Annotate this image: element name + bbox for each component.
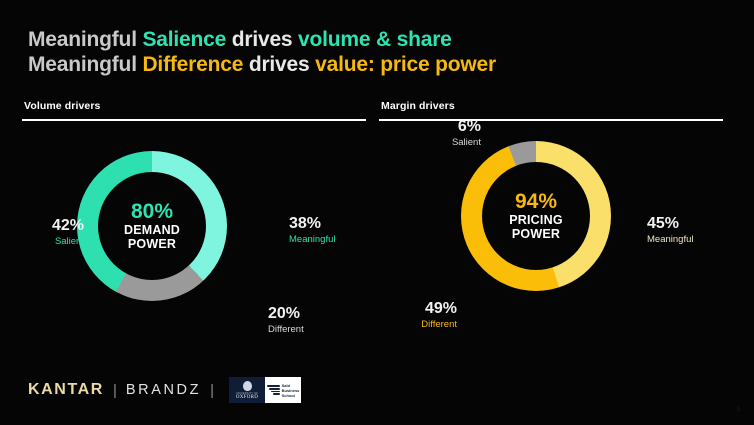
donut-center-pricing: 94% PRICING POWER <box>482 162 590 270</box>
title-seg-difference: Difference <box>142 53 243 76</box>
donut-area-volume: 80% DEMAND POWER 42% Salient 38% Meaning… <box>22 121 366 353</box>
title-seg-volume-share: volume & share <box>298 28 452 51</box>
center-label-pricing-1: PRICING <box>509 213 563 227</box>
title-seg-price-power: value: price power <box>315 53 496 76</box>
kantar-logo: KANTAR <box>28 381 104 399</box>
center-percent-demand: 80% <box>131 201 173 223</box>
callout-name: Different <box>367 318 457 331</box>
donut-chart-pricing-power: 94% PRICING POWER <box>461 141 611 291</box>
brandz-logo: BRANDZ <box>126 382 201 398</box>
partner-logos: UNIVERSITY OF OXFORD Saïd Business Schoo… <box>229 377 301 403</box>
callout-percent: 20% <box>268 305 304 323</box>
title-seg: Meaningful <box>28 28 142 51</box>
title-seg: Meaningful <box>28 53 142 76</box>
callout-different-volume: 20% Different <box>268 305 304 336</box>
panel-volume-drivers: Volume drivers 80% DEMAND POWER 42% Sali… <box>22 100 366 362</box>
footer-separator: | <box>210 382 214 399</box>
oxford-crest-icon <box>243 381 252 391</box>
title-seg: drives <box>243 53 315 76</box>
title-line-1: Meaningful Salience drives volume & shar… <box>28 27 496 52</box>
center-percent-pricing: 94% <box>515 191 557 213</box>
page-number: 3 <box>736 406 740 413</box>
panel-heading-margin: Margin drivers <box>379 100 723 112</box>
panel-margin-drivers: Margin drivers 94% PRICING POWER 6% Sali… <box>379 100 723 362</box>
callout-percent: 38% <box>289 215 335 233</box>
said-stack-icon <box>267 385 280 394</box>
donut-area-margin: 94% PRICING POWER 6% Salient 45% Meaning… <box>379 121 723 353</box>
callout-name: Salient <box>401 136 481 149</box>
center-label-demand-2: POWER <box>128 237 176 251</box>
title-line-2: Meaningful Difference drives value: pric… <box>28 52 496 77</box>
said-line-3: School <box>282 393 295 398</box>
callout-meaningful-volume: 38% Meaningful <box>289 215 335 246</box>
callout-name: Salient <box>20 235 84 248</box>
callout-percent: 42% <box>20 217 84 235</box>
footer-branding: KANTAR | BRANDZ | UNIVERSITY OF OXFORD S… <box>28 377 301 403</box>
callout-percent: 6% <box>401 118 481 136</box>
donut-center-demand: 80% DEMAND POWER <box>98 172 206 280</box>
said-wordmark: Saïd Business School <box>282 383 300 398</box>
callout-different-margin: 49% Different <box>367 300 457 331</box>
said-business-school-logo: Saïd Business School <box>265 377 301 403</box>
title-seg: drives <box>226 28 298 51</box>
center-label-pricing-2: POWER <box>512 227 560 241</box>
callout-name: Meaningful <box>647 233 693 246</box>
callout-meaningful-margin: 45% Meaningful <box>647 215 693 246</box>
callout-salient-volume: 42% Salient <box>20 217 84 248</box>
footer-separator: | <box>113 382 117 399</box>
donut-chart-demand-power: 80% DEMAND POWER <box>77 151 227 301</box>
oxford-university-logo: UNIVERSITY OF OXFORD <box>229 377 265 403</box>
oxford-name: OXFORD <box>236 395 258 400</box>
center-label-demand-1: DEMAND <box>124 223 180 237</box>
callout-percent: 45% <box>647 215 693 233</box>
page-title: Meaningful Salience drives volume & shar… <box>28 27 496 77</box>
slide: Meaningful Salience drives volume & shar… <box>0 0 754 425</box>
callout-name: Different <box>268 323 304 336</box>
callout-salient-margin: 6% Salient <box>401 118 481 149</box>
callout-name: Meaningful <box>289 233 335 246</box>
panel-heading-volume: Volume drivers <box>22 100 366 112</box>
title-seg-salience: Salience <box>142 28 226 51</box>
callout-percent: 49% <box>367 300 457 318</box>
